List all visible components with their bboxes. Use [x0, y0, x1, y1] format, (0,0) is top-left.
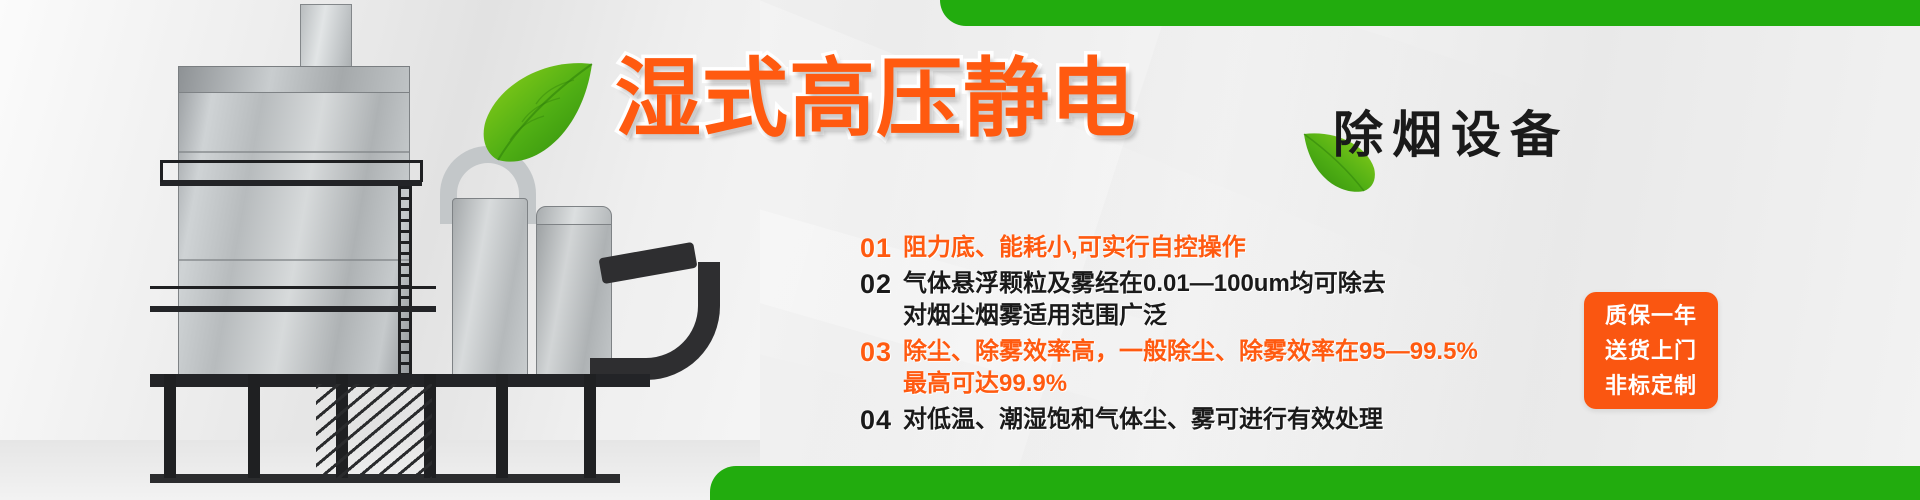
promo-banner: 湿式高压静电 除烟设备 01 阻力底、能耗小,可实行自控操作 02 气体悬浮颗粒…: [0, 0, 1920, 500]
tower-roof: [178, 66, 410, 94]
badge-line-3: 非标定制: [1605, 369, 1697, 402]
feature-item: 02 气体悬浮颗粒及雾经在0.01—100um均可除去 对烟尘烟雾适用范围广泛: [860, 268, 1580, 332]
feature-item: 03 除尘、除雾效率高，一般除尘、除雾效率在95—99.5% 最高可达99.9%: [860, 336, 1580, 400]
support-leg: [164, 374, 176, 478]
feature-line-1: 气体悬浮颗粒及雾经在0.01—100um均可除去: [903, 270, 1386, 297]
platform-lower: [150, 306, 436, 312]
feature-text: 除尘、除雾效率高，一般除尘、除雾效率在95—99.5% 最高可达99.9%: [903, 336, 1478, 400]
support-leg: [248, 374, 260, 478]
feature-number: 01: [860, 232, 892, 264]
feature-text: 阻力底、能耗小,可实行自控操作: [903, 232, 1246, 264]
platform-post: [160, 160, 163, 182]
feature-number: 04: [860, 404, 892, 436]
platform-upper: [160, 180, 422, 186]
feature-text: 对低温、潮湿饱和气体尘、雾可进行有效处理: [903, 404, 1383, 436]
staircase: [316, 384, 432, 480]
badge-line-1: 质保一年: [1605, 299, 1697, 332]
feature-list: 01 阻力底、能耗小,可实行自控操作 02 气体悬浮颗粒及雾经在0.01—100…: [860, 232, 1580, 440]
feature-item: 01 阻力底、能耗小,可实行自控操作: [860, 232, 1580, 264]
feature-number: 03: [860, 336, 892, 368]
feature-line-1: 阻力底、能耗小,可实行自控操作: [903, 234, 1246, 261]
feature-line-1: 除尘、除雾效率高，一般除尘、除雾效率在95—99.5%: [903, 338, 1478, 365]
main-tower: [178, 92, 410, 380]
feature-line-1: 对低温、潮湿饱和气体尘、雾可进行有效处理: [903, 406, 1383, 433]
leaf-icon: [478, 58, 598, 171]
feature-text: 气体悬浮颗粒及雾经在0.01—100um均可除去 对烟尘烟雾适用范围广泛: [903, 268, 1386, 332]
feature-item: 04 对低温、潮湿饱和气体尘、雾可进行有效处理: [860, 404, 1580, 436]
feature-line-2: 最高可达99.9%: [903, 368, 1478, 400]
green-ribbon-bottom: [710, 466, 1920, 500]
support-leg: [584, 374, 596, 478]
page-subtitle: 除烟设备: [1333, 110, 1569, 160]
page-title: 湿式高压静电: [615, 56, 1137, 142]
platform-post: [420, 160, 423, 182]
feature-number: 02: [860, 268, 892, 300]
badge-line-2: 送货上门: [1605, 334, 1697, 367]
service-guarantee-badge: 质保一年 送货上门 非标定制: [1584, 292, 1718, 409]
green-ribbon-top: [940, 0, 1920, 26]
platform-rail: [150, 286, 436, 289]
scrubber-tower-b: [452, 198, 528, 384]
access-ladder: [398, 186, 412, 384]
feature-line-2: 对烟尘烟雾适用范围广泛: [903, 300, 1386, 332]
platform-rail: [160, 160, 422, 163]
support-leg: [496, 374, 508, 478]
